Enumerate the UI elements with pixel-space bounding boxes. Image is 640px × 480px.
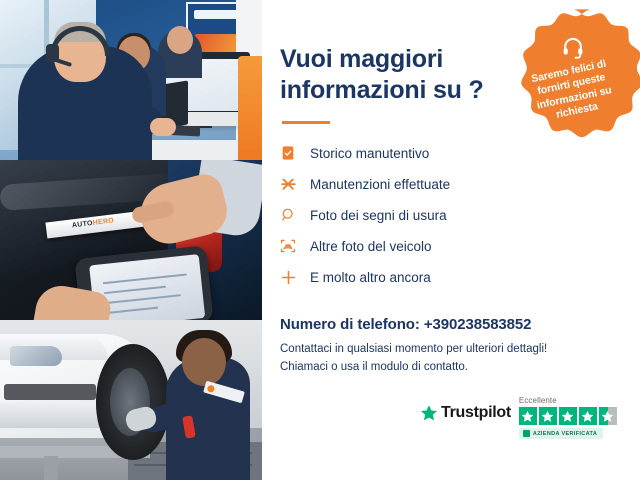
feature-label: E molto altro ancora <box>306 270 431 285</box>
plus-icon <box>280 266 306 288</box>
verified-company-badge: AZIENDA VERIFICATA <box>519 428 603 439</box>
trustpilot-widget[interactable]: Trustpilot Eccellente AZIENDA VERIFICATA <box>420 396 617 439</box>
callout-starburst-badge: Saremo felici di fornirti queste informa… <box>505 8 640 144</box>
autohero-logo: AUTOHERO <box>72 217 115 229</box>
car-bumper <box>0 402 108 428</box>
feature-label: Storico manutentivo <box>306 146 429 161</box>
vehicle-inspection-ruler-photo: AUTOHERO <box>0 160 262 320</box>
feature-item-foto-segni-usura: Foto dei segni di usura <box>280 200 640 230</box>
page-title-line-1: Vuoi maggiori <box>280 45 443 73</box>
technician-head <box>182 338 226 386</box>
photo-column: AUTOHERO <box>0 0 262 480</box>
star-4 <box>579 407 597 425</box>
workshop-wheel-check-photo <box>0 320 262 480</box>
contact-description-line-2: Chiamaci o usa il modulo di contatto. <box>280 361 468 373</box>
feature-item-altre-foto-veicolo: Altre foto del veicolo <box>280 231 640 261</box>
trustpilot-wordmark: Trustpilot <box>441 404 511 422</box>
star-2 <box>539 407 557 425</box>
clipboard-check-icon <box>280 142 306 164</box>
star-5-half <box>599 407 617 425</box>
content-panel: Vuoi maggiori informazioni su ? Storico … <box>262 0 640 480</box>
headset-icon <box>561 35 585 59</box>
orange-signage <box>238 56 262 160</box>
contact-description-line-1: Contattaci in qualsiasi momento per ulte… <box>280 343 547 355</box>
autohero-logo-auto: AUTO <box>72 220 94 229</box>
trustpilot-star-icon <box>420 404 438 422</box>
feature-label: Altre foto del veicolo <box>306 239 432 254</box>
promo-banner: AUTOHERO <box>0 0 640 480</box>
car-grille <box>4 384 96 400</box>
trustpilot-rating-label: Eccellente <box>519 396 557 405</box>
star-3 <box>559 407 577 425</box>
page-title: Vuoi maggiori informazioni su ? <box>280 44 512 105</box>
contact-description: Contattaci in qualsiasi momento per ulte… <box>280 341 640 377</box>
autohero-logo-hero: HERO <box>92 217 114 227</box>
feature-label: Foto dei segni di usura <box>306 208 447 223</box>
call-center-agents-photo <box>0 0 262 160</box>
title-divider <box>282 121 330 124</box>
scan-car-icon <box>280 235 306 257</box>
feature-item-manutenzioni-effettuate: Manutenzioni effettuate <box>280 169 640 199</box>
car-headlight <box>10 346 62 366</box>
feature-item-molto-altro: E molto altro ancora <box>280 262 640 292</box>
background-agent-3-head <box>167 26 193 54</box>
trustpilot-logo: Trustpilot <box>420 404 511 422</box>
feature-label: Manutenzioni effettuate <box>306 177 450 192</box>
verified-company-label: AZIENDA VERIFICATA <box>533 431 597 437</box>
page-title-line-2: informazioni su ? <box>280 76 484 104</box>
foreground-agent-hand <box>150 118 176 136</box>
phone-number-line: Numero di telefono: +390238583852 <box>280 316 640 333</box>
star-1 <box>519 407 537 425</box>
verified-check-icon <box>523 430 530 437</box>
car-lift-post <box>44 456 58 480</box>
feature-list: Storico manutentivo Manutenzioni effettu… <box>280 138 640 292</box>
tools-cross-icon <box>280 173 306 195</box>
magnifier-icon <box>280 204 306 226</box>
trustpilot-stars <box>519 407 617 425</box>
trustpilot-rating-block: Eccellente AZIENDA VERIFICATA <box>519 396 617 439</box>
